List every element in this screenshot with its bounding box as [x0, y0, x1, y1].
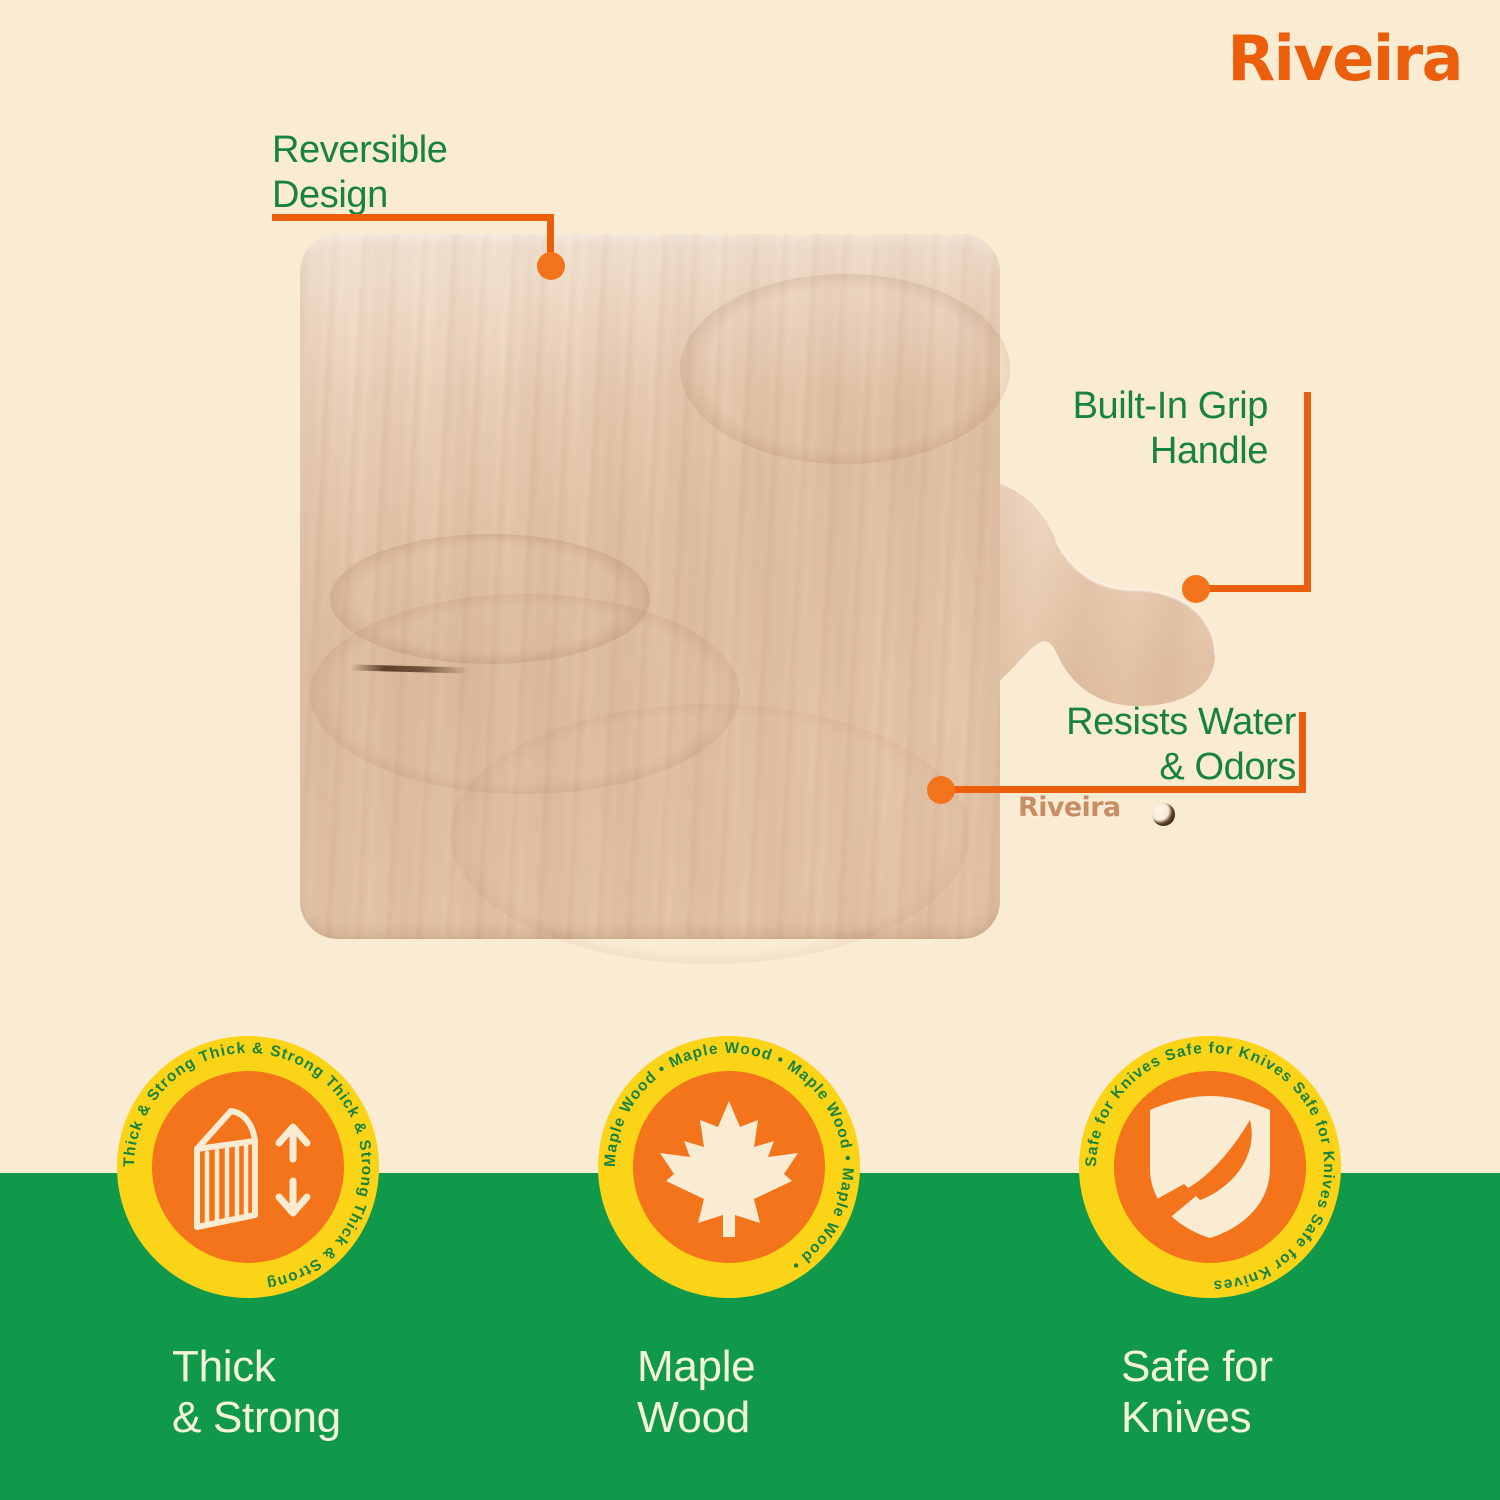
callout-line-2: & Odors — [1066, 745, 1296, 790]
badge-icon-shield-knife — [1114, 1071, 1306, 1263]
badge-icon-maple-leaf — [633, 1071, 825, 1263]
caption-line-2: Knives — [1121, 1392, 1273, 1443]
callout-built-in-grip-handle: Built-In Grip Handle — [1073, 384, 1268, 474]
caption-line-2: & Strong — [172, 1392, 341, 1443]
badge-maple-wood: Maple Wood • Maple Wood • Maple Wood • M… — [598, 1036, 860, 1298]
wood-grain — [330, 534, 650, 664]
callout-leader-line-horizontal — [944, 786, 1306, 793]
badge-caption-maple-wood: Maple Wood — [637, 1341, 755, 1444]
board-surface — [300, 234, 1000, 939]
wood-grain — [450, 704, 970, 964]
badge-caption-thick-and-strong: Thick & Strong — [172, 1341, 341, 1444]
callout-reversible-design: Reversible Design — [272, 128, 448, 218]
wood-knot-mark — [350, 664, 468, 673]
badge-icon-thickness — [152, 1071, 344, 1263]
infographic-stage: Riveira — [0, 0, 1500, 1500]
feature-badges: Thick & Strong Thick & Strong Thick & St… — [0, 1036, 1500, 1306]
callout-line-1: Reversible — [272, 128, 448, 173]
callout-leader-line-vertical — [1299, 712, 1306, 793]
callout-anchor-dot — [537, 252, 565, 280]
callout-line-1: Built-In Grip — [1073, 384, 1268, 429]
caption-line-1: Maple — [637, 1341, 755, 1392]
wood-grain — [680, 274, 1010, 464]
badge-caption-safe-for-knives: Safe for Knives — [1121, 1341, 1273, 1444]
callout-line-2: Design — [272, 173, 448, 218]
callout-anchor-dot — [927, 776, 955, 804]
callout-leader-line-vertical — [1304, 392, 1311, 588]
wood-grain — [310, 594, 740, 794]
callout-line-2: Handle — [1073, 429, 1268, 474]
caption-line-1: Thick — [172, 1341, 341, 1392]
caption-line-1: Safe for — [1121, 1341, 1273, 1392]
badge-safe-for-knives: Safe for Knives Safe for Knives Safe for… — [1079, 1036, 1341, 1298]
callout-leader-line-horizontal — [272, 214, 553, 221]
badge-thick-and-strong: Thick & Strong Thick & Strong Thick & St… — [117, 1036, 379, 1298]
engraved-brand-logo: Riveira — [1018, 792, 1121, 823]
callout-leader-line-horizontal — [1196, 585, 1311, 592]
brand-logo: Riveira — [1227, 28, 1462, 90]
hanging-hole — [1152, 803, 1175, 826]
caption-line-2: Wood — [637, 1392, 755, 1443]
callout-anchor-dot — [1182, 575, 1210, 603]
callout-line-1: Resists Water — [1066, 700, 1296, 745]
callout-resists-water-odors: Resists Water & Odors — [1066, 700, 1296, 790]
cutting-board-image: Riveira — [300, 234, 1220, 939]
